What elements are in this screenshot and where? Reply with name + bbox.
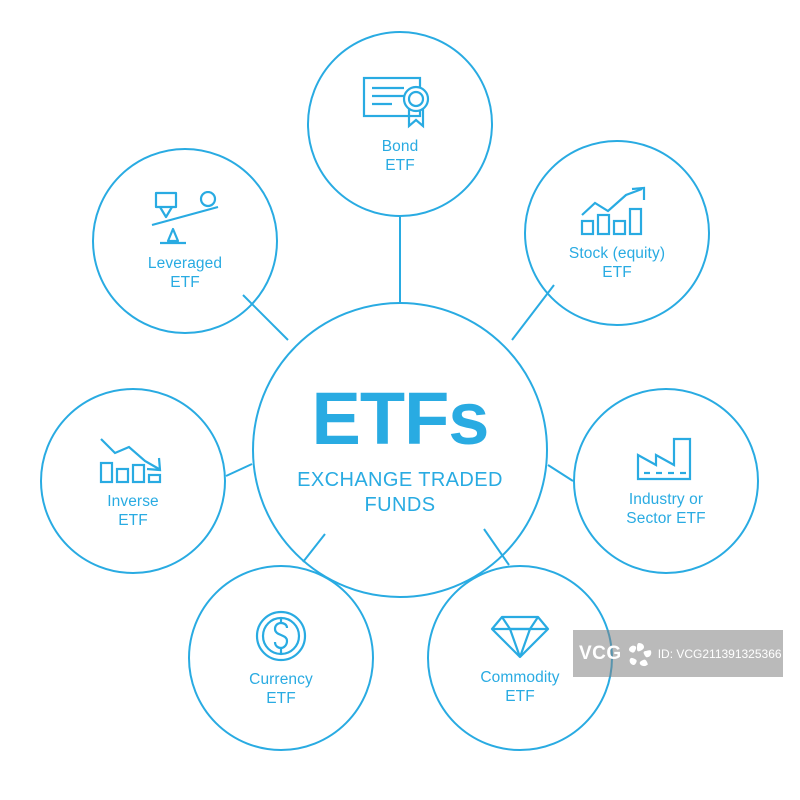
watermark-id-text: ID: VCG211391325366	[658, 647, 782, 661]
node-industry-label: Industry or Sector ETF	[626, 490, 705, 528]
watermark: VCG ID: VCG211391325366	[573, 630, 783, 677]
node-leveraged-label: Leveraged ETF	[148, 254, 222, 292]
node-currency[interactable]: Currency ETF	[188, 565, 374, 751]
node-commodity-label: Commodity ETF	[480, 668, 559, 706]
node-currency-label: Currency ETF	[249, 670, 313, 708]
center-node: ETFs EXCHANGE TRADED FUNDS	[252, 302, 548, 598]
watermark-mark-icon	[627, 641, 653, 667]
node-inverse-label: Inverse ETF	[107, 492, 159, 530]
node-stock[interactable]: Stock (equity) ETF	[524, 140, 710, 326]
node-stock-label: Stock (equity) ETF	[569, 244, 665, 282]
certificate-icon	[362, 74, 438, 130]
node-bond-label: Bond ETF	[382, 137, 419, 175]
node-industry[interactable]: Industry or Sector ETF	[573, 388, 759, 574]
center-title: ETFs	[312, 382, 489, 456]
connector-inverse	[226, 464, 252, 476]
connector-industry	[548, 465, 573, 481]
node-inverse[interactable]: Inverse ETF	[40, 388, 226, 574]
factory-icon	[636, 435, 696, 483]
node-leveraged[interactable]: Leveraged ETF	[92, 148, 278, 334]
node-bond[interactable]: Bond ETF	[307, 31, 493, 217]
bar-chart-up-arrow-icon	[578, 185, 656, 237]
bar-chart-down-arrow-icon	[97, 433, 169, 485]
seesaw-balance-icon	[146, 191, 224, 247]
diamond-icon	[490, 611, 550, 661]
center-subtitle: EXCHANGE TRADED FUNDS	[297, 468, 503, 518]
watermark-logo: VCG	[579, 643, 622, 665]
dollar-coin-icon	[254, 609, 308, 663]
